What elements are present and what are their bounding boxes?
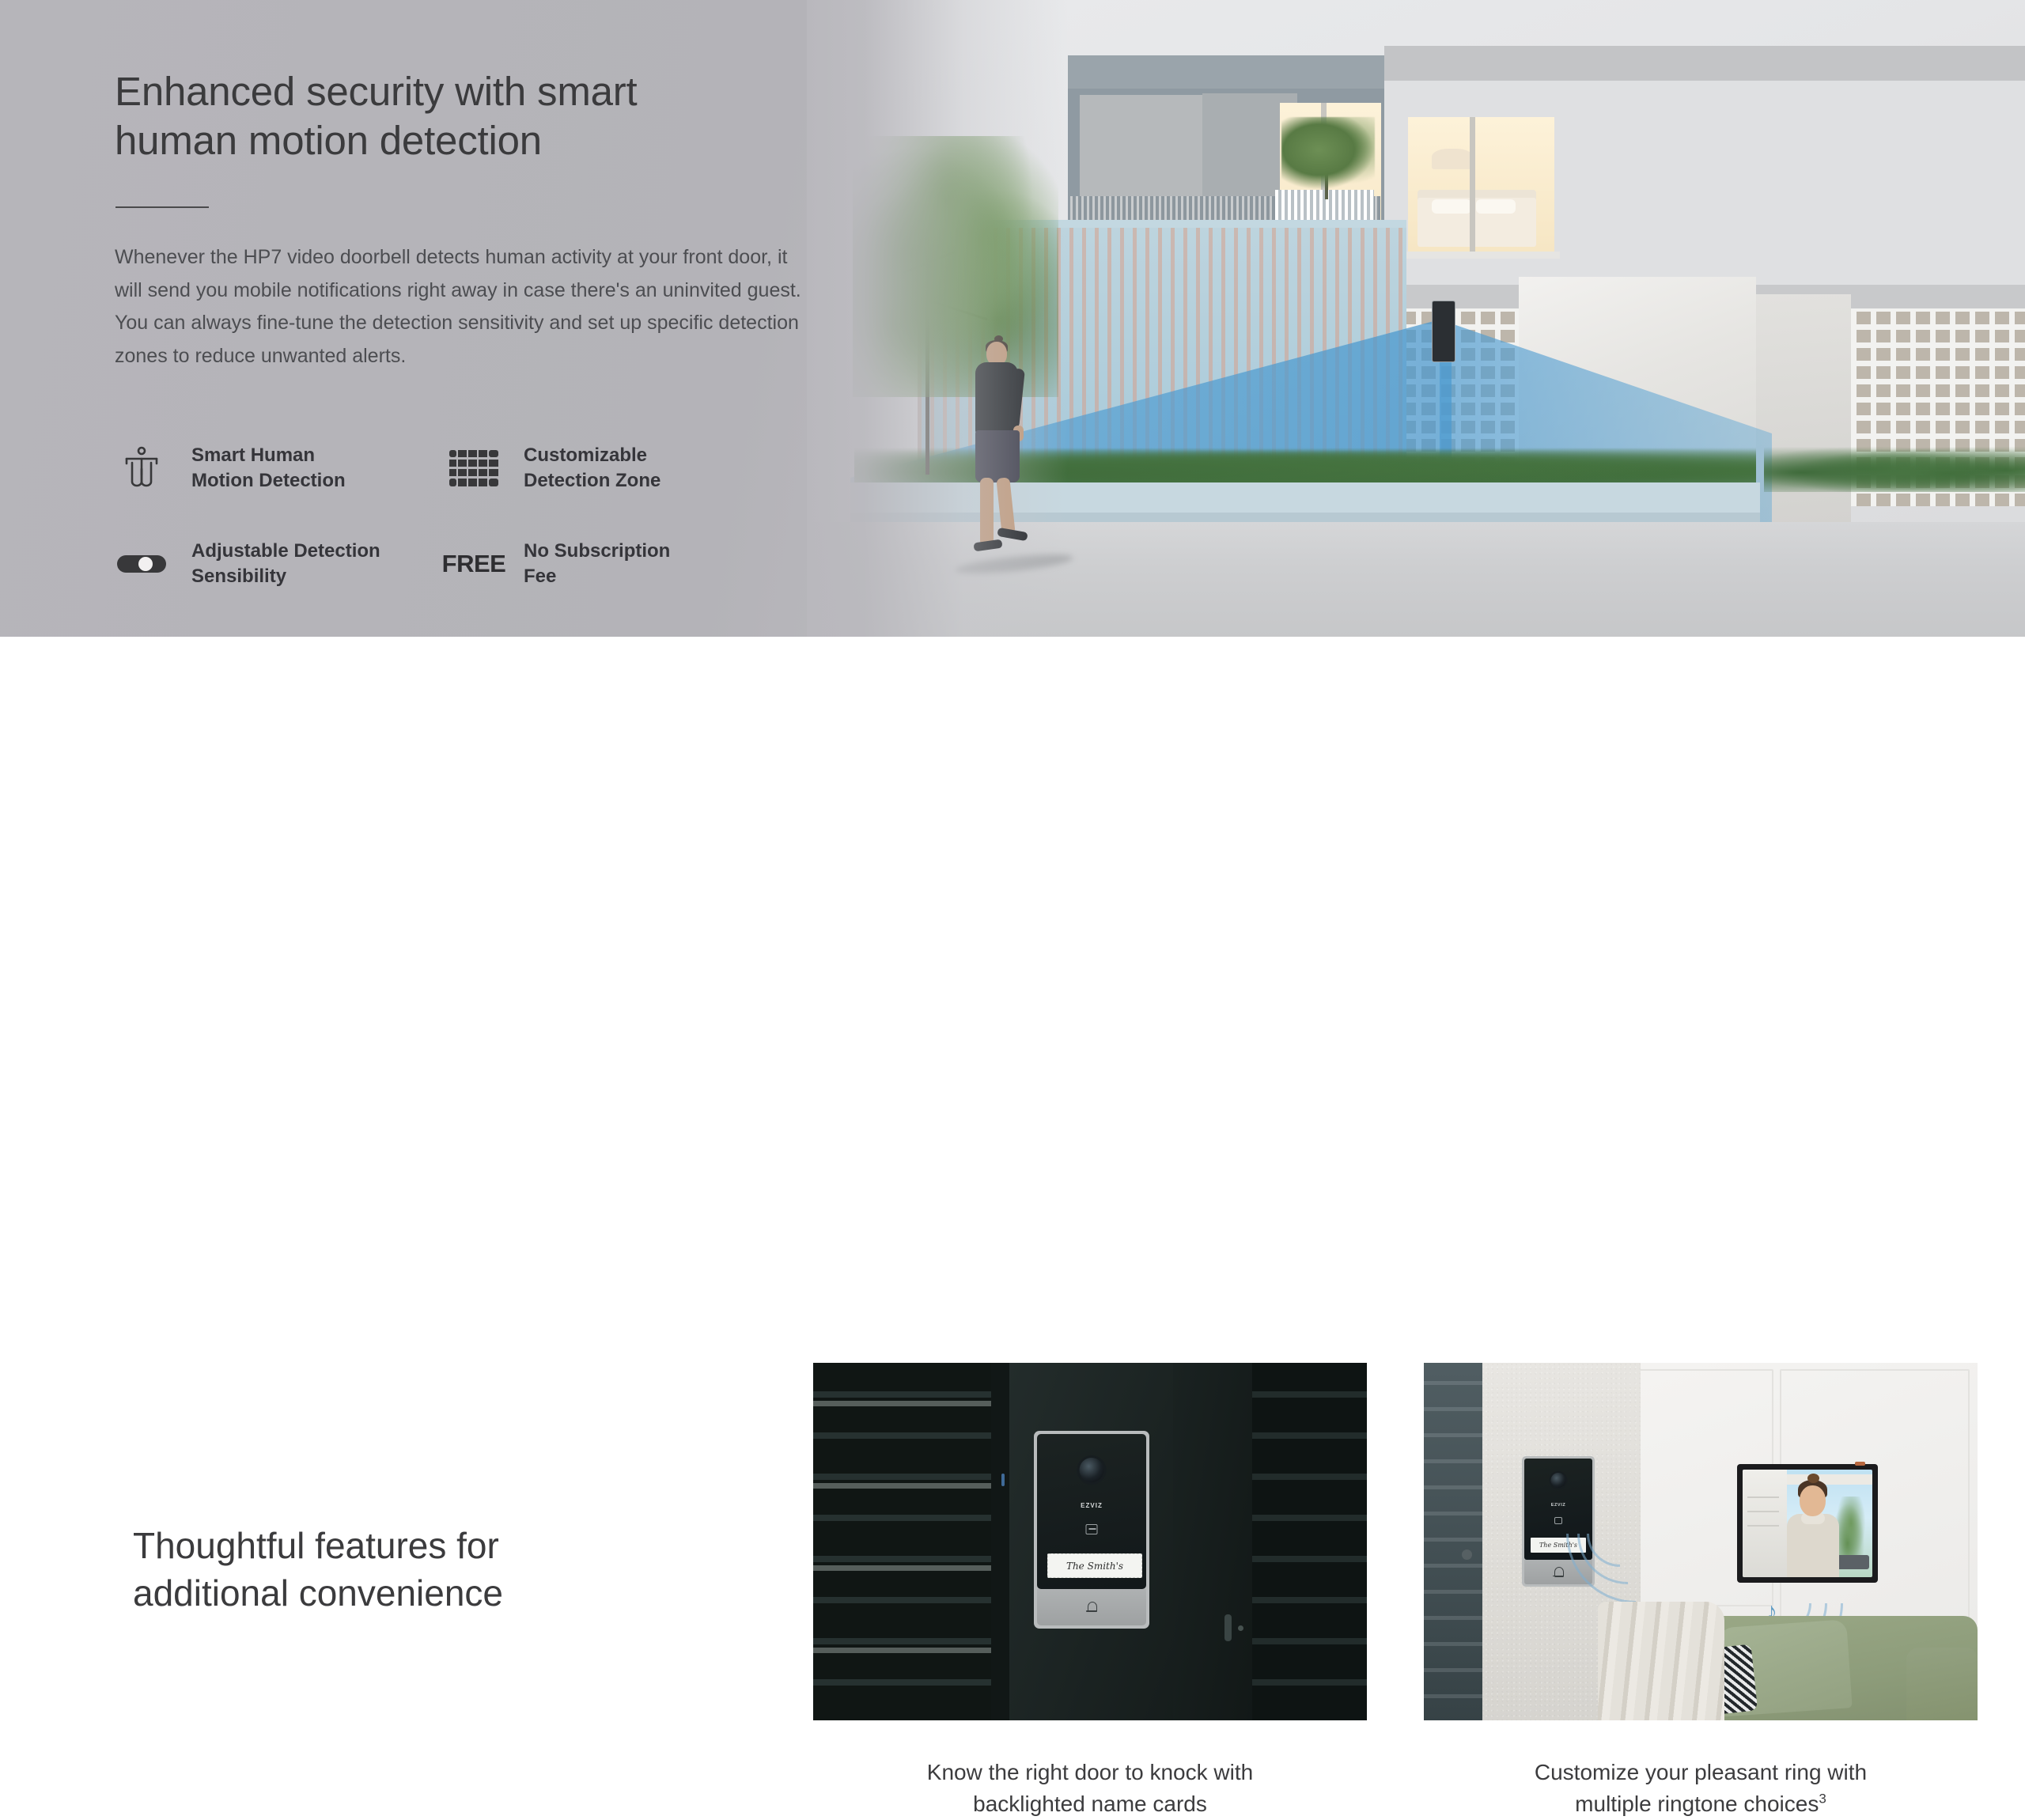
feature-item-smart-human-motion-detection: Smart Human Motion Detection: [111, 443, 443, 493]
hedge-row-right: [1764, 443, 2025, 492]
caption-footnote-marker: 3: [1819, 1791, 1826, 1806]
nfc-reader-icon: [1086, 1524, 1098, 1534]
gate-slats-left: [813, 1363, 991, 1720]
human-motion-icon: [111, 445, 172, 491]
nfc-reader-icon: [1554, 1517, 1562, 1524]
hero-title: Enhanced security with smart human motio…: [115, 67, 827, 165]
bed-pillow-left: [1432, 199, 1471, 214]
toggle-switch-icon: [111, 554, 172, 574]
feature-label: No Subscription Fee: [524, 539, 670, 588]
window-mullion-b: [1470, 117, 1475, 252]
feature-label-line-2: Motion Detection: [191, 470, 346, 491]
doorbell-device: EZVIZ The Smith's: [1034, 1431, 1149, 1629]
feature-label: Adjustable Detection Sensibility: [191, 539, 380, 588]
doorbell-button: [1037, 1589, 1146, 1625]
visitor-hair-bun: [1807, 1474, 1819, 1483]
section-heading: Thoughtful features for additional conve…: [133, 1523, 734, 1618]
doorbell-device-hero: [1432, 301, 1455, 362]
feature-label-line-1: Adjustable Detection: [191, 540, 380, 562]
porch-tree: [1834, 1496, 1868, 1563]
knit-throw-blanket: [1598, 1602, 1724, 1720]
card-caption: Know the right door to knock with backli…: [813, 1757, 1367, 1820]
feature-label-line-2: Detection Zone: [524, 470, 660, 491]
section-heading-line-1: Thoughtful features for: [133, 1525, 499, 1566]
hero-feature-list: Smart Human Motion Detection Customizabl…: [111, 443, 838, 589]
feature-item-no-subscription-fee: FREE No Subscription Fee: [443, 539, 775, 588]
detection-zone-grid-icon: [443, 450, 505, 486]
card-caption: Customize your pleasant ring with multip…: [1424, 1757, 1978, 1820]
monitor-indicator-light: [1855, 1462, 1865, 1466]
window-sill-b: [1402, 252, 1560, 259]
backlighted-name-card: The Smith's: [1047, 1553, 1142, 1578]
doorbell-camera-lens: [1080, 1458, 1104, 1482]
feature-card-name-cards: EZVIZ The Smith's Know the right door to…: [813, 1363, 1367, 1820]
hero-title-line-1: Enhanced security with smart: [115, 69, 638, 114]
card-caption-line-1: Know the right door to knock with: [927, 1760, 1253, 1784]
feature-label-line-1: Smart Human: [191, 445, 315, 466]
hero-section: Enhanced security with smart human motio…: [0, 0, 2025, 637]
monitor-screen: [1743, 1470, 1872, 1577]
card-image-doorbell-ringing-to-indoor-monitor: EZVIZ The Smith's ♪: [1424, 1363, 1978, 1720]
couch-armrest: [1906, 1648, 1978, 1720]
visitor-face: [1800, 1485, 1826, 1516]
feature-card-ringtones: EZVIZ The Smith's ♪: [1424, 1363, 1978, 1820]
hero-title-line-2: human motion detection: [115, 118, 542, 163]
balcony-tree: [1281, 117, 1375, 190]
gate-lock-icon: [1238, 1625, 1243, 1631]
feature-label-line-2: Sensibility: [191, 566, 286, 587]
section-heading-line-2: additional convenience: [133, 1572, 503, 1614]
hero-illustration: [807, 0, 2025, 637]
feature-item-customizable-detection-zone: Customizable Detection Zone: [443, 443, 775, 493]
gate-handle: [1224, 1614, 1232, 1641]
features-section: Thoughtful features for additional conve…: [0, 637, 2025, 1266]
gate-glass-reflection: [1424, 1363, 1482, 1720]
title-divider-rule: [115, 206, 209, 208]
gate-post-right: [1173, 1363, 1256, 1720]
gate-knob: [1462, 1549, 1472, 1560]
bed-pillow-right: [1476, 199, 1516, 214]
card-caption-line-2: multiple ringtone choices: [1575, 1792, 1819, 1816]
free-text-icon: FREE: [443, 550, 505, 578]
feature-label-line-1: Customizable: [524, 445, 647, 466]
gate-led-indicator: [1001, 1474, 1005, 1486]
parked-car: [1834, 1555, 1869, 1569]
brand-logo: EZVIZ: [1551, 1503, 1566, 1508]
feature-item-adjustable-detection-sensibility: Adjustable Detection Sensibility: [111, 539, 443, 588]
living-room-couch: [1598, 1602, 1978, 1720]
doorbell-faceplate: EZVIZ The Smith's: [1037, 1434, 1146, 1589]
artwork-left-fade: [807, 0, 1068, 637]
card-caption-line-2: backlighted name cards: [973, 1792, 1207, 1816]
brand-logo: EZVIZ: [1081, 1502, 1103, 1509]
bell-icon: [1086, 1601, 1097, 1614]
feature-label: Smart Human Motion Detection: [191, 443, 346, 493]
feature-label-line-1: No Subscription: [524, 540, 670, 562]
ceiling-lamp: [1432, 149, 1473, 169]
porch-wall: [1743, 1470, 1787, 1577]
card-image-doorbell-on-dark-gate: EZVIZ The Smith's: [813, 1363, 1367, 1720]
indoor-monitor: [1737, 1464, 1878, 1583]
name-card-text: The Smith's: [1066, 1561, 1123, 1572]
gate-slats-right: [1252, 1363, 1367, 1720]
hero-copy-block: Enhanced security with smart human motio…: [115, 67, 827, 373]
feature-card-grid: EZVIZ The Smith's Know the right door to…: [813, 1363, 1978, 1820]
feature-label-line-2: Fee: [524, 566, 556, 587]
card-caption-line-1: Customize your pleasant ring with: [1535, 1760, 1867, 1784]
hero-body-text: Whenever the HP7 video doorbell detects …: [115, 241, 811, 373]
bell-icon: [1553, 1566, 1564, 1579]
feature-label: Customizable Detection Zone: [524, 443, 660, 493]
roof-slab-right: [1384, 46, 2025, 81]
doorbell-camera-lens: [1551, 1473, 1566, 1488]
